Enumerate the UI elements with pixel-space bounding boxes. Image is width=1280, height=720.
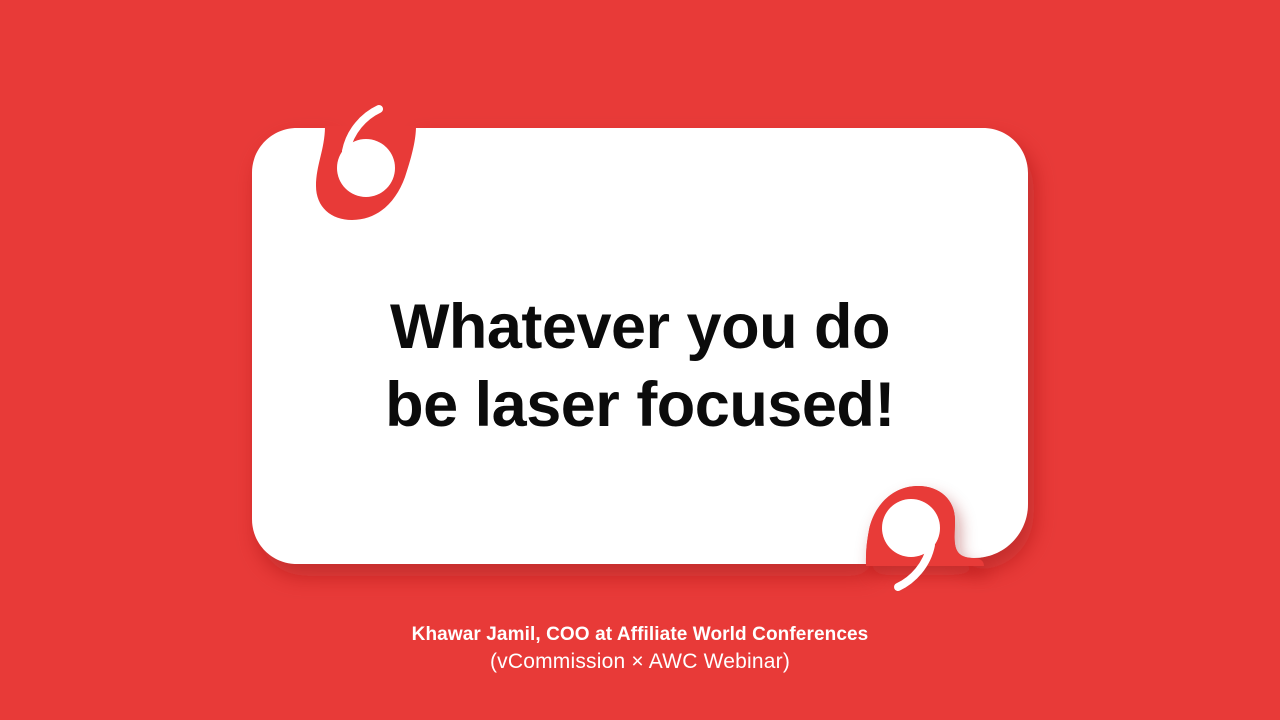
quote-line-2: be laser focused! bbox=[385, 366, 895, 444]
open-quote-glyph bbox=[337, 109, 395, 197]
slide-canvas: Whatever you do be laser focused! Khawar… bbox=[0, 0, 1280, 720]
quote-text-block: Whatever you do be laser focused! bbox=[252, 206, 1028, 526]
attribution-caption: Khawar Jamil, COO at Affiliate World Con… bbox=[0, 622, 1280, 676]
event-source-line: (vCommission × AWC Webinar) bbox=[0, 648, 1280, 676]
speaker-name-and-title: Khawar Jamil, COO at Affiliate World Con… bbox=[0, 622, 1280, 648]
quote-line-1: Whatever you do bbox=[390, 288, 890, 366]
